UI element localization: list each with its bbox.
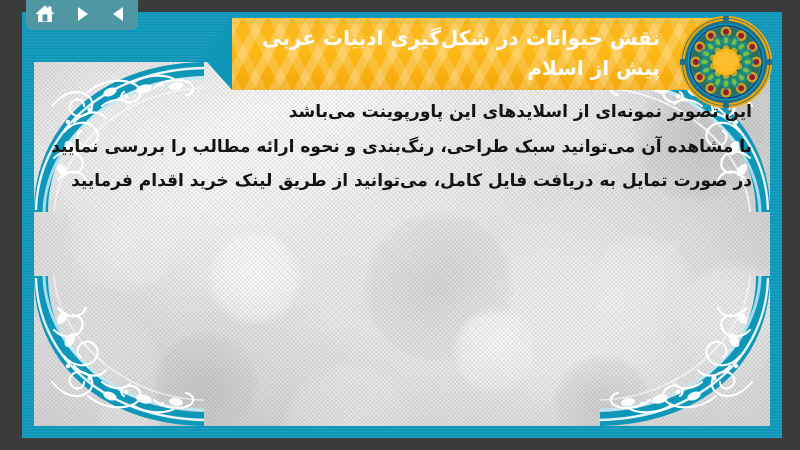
previous-slide-button[interactable] — [106, 2, 132, 26]
next-slide-button[interactable] — [69, 2, 95, 26]
home-button[interactable] — [32, 2, 58, 26]
slide-navigation-toolbar — [26, 0, 138, 30]
presentation-viewer: این تصویر نمونه‌ای از اسلایدهای این پاور… — [0, 0, 800, 450]
slide: این تصویر نمونه‌ای از اسلایدهای این پاور… — [22, 12, 782, 438]
body-line-2: با مشاهده آن می‌توانید سبک طراحی، رنگ‌بن… — [22, 135, 752, 161]
triangle-right-icon — [73, 5, 91, 23]
slide-body-text: این تصویر نمونه‌ای از اسلایدهای این پاور… — [22, 100, 752, 195]
home-icon — [34, 4, 56, 24]
triangle-left-icon — [110, 5, 128, 23]
body-line-1: این تصویر نمونه‌ای از اسلایدهای این پاور… — [22, 100, 752, 126]
body-line-3: در صورت تمایل به دریافت فایل کامل، می‌تو… — [22, 169, 752, 195]
